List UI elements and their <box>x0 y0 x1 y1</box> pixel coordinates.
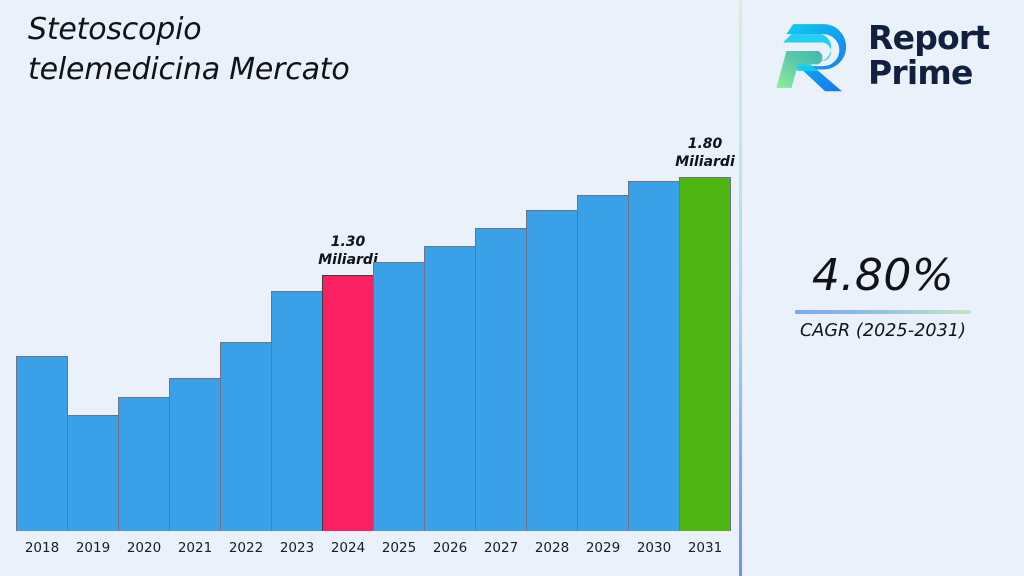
bar-slot-2031: 1.80 Miliardi2031 <box>679 120 731 531</box>
cagr-divider-rule <box>795 310 971 314</box>
bar-2029[interactable] <box>577 195 629 531</box>
bar-2022[interactable] <box>220 342 272 531</box>
bar-2026[interactable] <box>424 246 476 531</box>
bar-2027[interactable] <box>475 228 527 531</box>
bar-chart-plot: 2018201920202021202220231.30 Miliardi202… <box>0 120 740 576</box>
cagr-value: 4.80% <box>742 250 1024 301</box>
bar-2030[interactable] <box>628 181 680 531</box>
bar-2019[interactable] <box>67 415 119 531</box>
bar-2023[interactable] <box>271 291 323 531</box>
brand-name: Report Prime <box>868 21 989 90</box>
bar-slot-2024: 1.30 Miliardi2024 <box>322 120 374 531</box>
chart-panel: Stetoscopio telemedicina Mercato 2018201… <box>0 0 740 576</box>
bar-slot-2019: 2019 <box>67 120 119 531</box>
bar-slot-2025: 2025 <box>373 120 425 531</box>
bar-2018[interactable] <box>16 356 68 531</box>
x-tick-label-2019: 2019 <box>76 540 110 556</box>
report-prime-logo-icon <box>772 14 858 98</box>
x-tick-label-2022: 2022 <box>229 540 263 556</box>
bar-2025[interactable] <box>373 262 425 531</box>
cagr-caption: CAGR (2025-2031) <box>742 321 1024 341</box>
x-tick-label-2020: 2020 <box>127 540 161 556</box>
x-tick-label-2031: 2031 <box>688 540 722 556</box>
x-tick-label-2029: 2029 <box>586 540 620 556</box>
bar-slot-2026: 2026 <box>424 120 476 531</box>
x-tick-label-2026: 2026 <box>433 540 467 556</box>
chart-title: Stetoscopio telemedicina Mercato <box>28 10 668 89</box>
bar-slot-2028: 2028 <box>526 120 578 531</box>
x-tick-label-2023: 2023 <box>280 540 314 556</box>
bar-2028[interactable] <box>526 210 578 531</box>
x-tick-label-2027: 2027 <box>484 540 518 556</box>
cagr-block: 4.80% CAGR (2025-2031) <box>742 250 1024 341</box>
bar-slot-2027: 2027 <box>475 120 527 531</box>
brand-panel: Report Prime 4.80% CAGR (2025-2031) <box>742 0 1024 576</box>
x-tick-label-2025: 2025 <box>382 540 416 556</box>
x-tick-label-2028: 2028 <box>535 540 569 556</box>
bar-2031[interactable] <box>679 177 731 531</box>
bar-slot-2022: 2022 <box>220 120 272 531</box>
bar-slot-2029: 2029 <box>577 120 629 531</box>
report-prime-logo: Report Prime <box>772 14 989 98</box>
bar-slot-2018: 2018 <box>16 120 68 531</box>
bar-2020[interactable] <box>118 397 170 531</box>
x-tick-label-2024: 2024 <box>331 540 365 556</box>
x-tick-label-2021: 2021 <box>178 540 212 556</box>
x-tick-label-2030: 2030 <box>637 540 671 556</box>
bar-2024[interactable] <box>322 275 374 531</box>
bar-slot-2021: 2021 <box>169 120 221 531</box>
bar-slot-2030: 2030 <box>628 120 680 531</box>
bar-2021[interactable] <box>169 378 221 531</box>
x-tick-label-2018: 2018 <box>25 540 59 556</box>
bar-slot-2020: 2020 <box>118 120 170 531</box>
bar-slot-2023: 2023 <box>271 120 323 531</box>
bar-series: 2018201920202021202220231.30 Miliardi202… <box>0 120 740 531</box>
infographic-root: Stetoscopio telemedicina Mercato 2018201… <box>0 0 1024 576</box>
